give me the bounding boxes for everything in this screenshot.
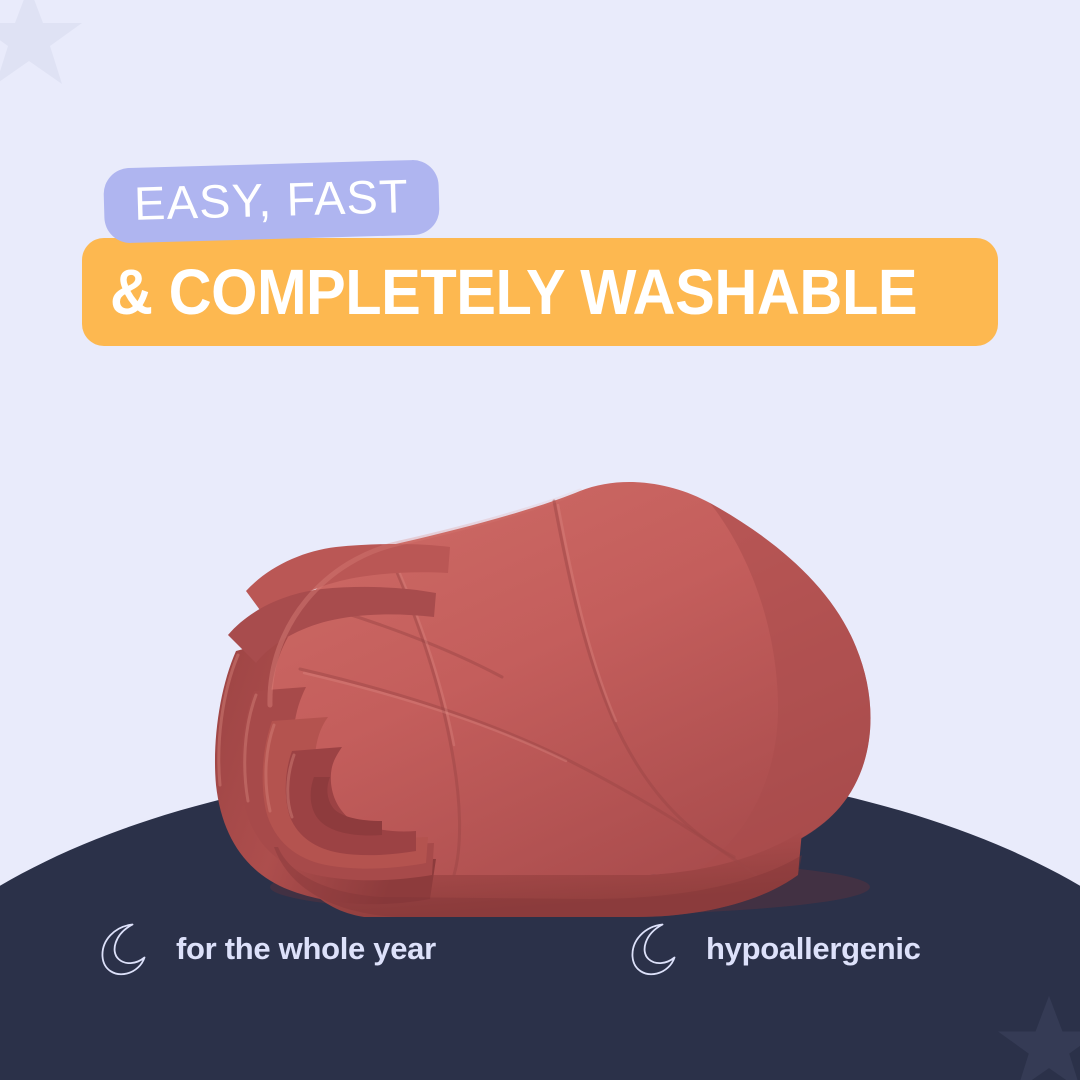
feature-label: hypoallergenic xyxy=(706,931,921,967)
star-icon xyxy=(0,0,84,90)
badge-easy-fast-label: EASY, FAST xyxy=(133,172,409,227)
feature-row: for the whole year hypoallergenic xyxy=(0,918,1080,1018)
feature-label: for the whole year xyxy=(176,931,436,967)
crescent-moon-icon xyxy=(622,918,684,980)
banner-completely-washable-label: & COMPLETELY WASHABLE xyxy=(110,260,917,324)
banner-completely-washable: & COMPLETELY WASHABLE xyxy=(82,238,998,346)
feature-item-for-the-whole-year: for the whole year xyxy=(92,918,436,980)
promo-graphic: EASY, FAST & COMPLETELY WASHABLE for the… xyxy=(0,0,1080,1080)
product-image-folded-blanket xyxy=(150,455,910,925)
feature-item-hypoallergenic: hypoallergenic xyxy=(622,918,921,980)
crescent-moon-icon xyxy=(92,918,154,980)
badge-easy-fast: EASY, FAST xyxy=(103,159,440,243)
